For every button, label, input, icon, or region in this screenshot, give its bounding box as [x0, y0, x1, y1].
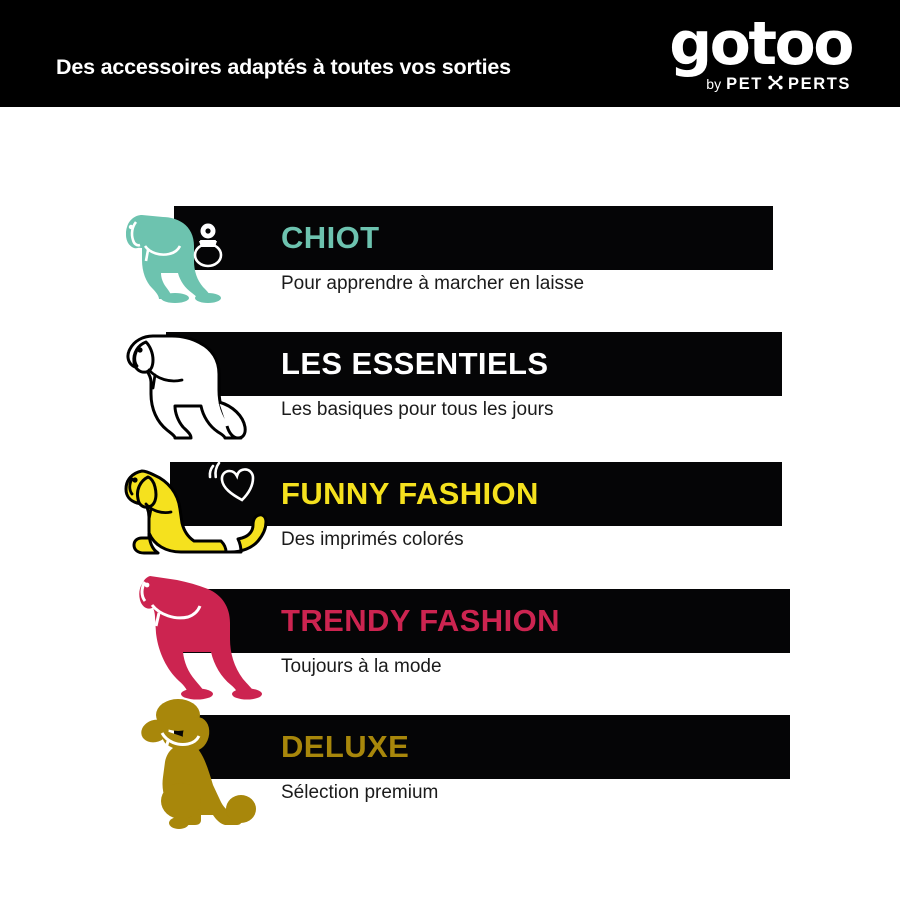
logo-tagline: by PET PERTS [706, 74, 851, 94]
category-row-chiot[interactable]: CHIOT Pour apprendre à marcher en laisse [0, 206, 900, 316]
pacifier-icon [185, 214, 231, 275]
header-bar: Des accessoires adaptés à toutes vos sor… [0, 0, 900, 107]
great-dane-sitting-icon [125, 567, 265, 705]
brand-logo[interactable]: gotoo by PET PERTS [662, 14, 852, 96]
labrador-outline-sitting-icon [115, 314, 260, 447]
category-row-essentiels[interactable]: LES ESSENTIELS Les basiques pour tous le… [0, 332, 900, 448]
logo-by-label: by [706, 76, 721, 92]
logo-wordmark: gotoo [669, 14, 852, 74]
category-title: FUNNY FASHION [281, 462, 539, 526]
heart-bounce-icon [205, 454, 267, 521]
logo-pet-label: PET [726, 75, 763, 94]
category-subtitle: Des imprimés colorés [281, 529, 464, 551]
category-subtitle: Sélection premium [281, 782, 438, 804]
bone-x-icon [768, 75, 783, 90]
category-title: CHIOT [281, 206, 379, 270]
category-title: DELUXE [281, 715, 409, 779]
category-bar [174, 206, 773, 270]
category-subtitle: Toujours à la mode [281, 656, 442, 678]
category-title: TRENDY FASHION [281, 589, 560, 653]
category-subtitle: Pour apprendre à marcher en laisse [281, 273, 584, 295]
poodle-sitting-icon [133, 697, 268, 837]
category-subtitle: Les basiques pour tous les jours [281, 399, 554, 421]
logo-perts-label: PERTS [788, 75, 851, 94]
category-title: LES ESSENTIELS [281, 332, 548, 396]
category-row-trendy[interactable]: TRENDY FASHION Toujours à la mode [0, 589, 900, 709]
category-row-deluxe[interactable]: DELUXE Sélection premium [0, 715, 900, 845]
page-title: Des accessoires adaptés à toutes vos sor… [56, 55, 511, 80]
category-row-funny[interactable]: FUNNY FASHION Des imprimés colorés [0, 462, 900, 576]
